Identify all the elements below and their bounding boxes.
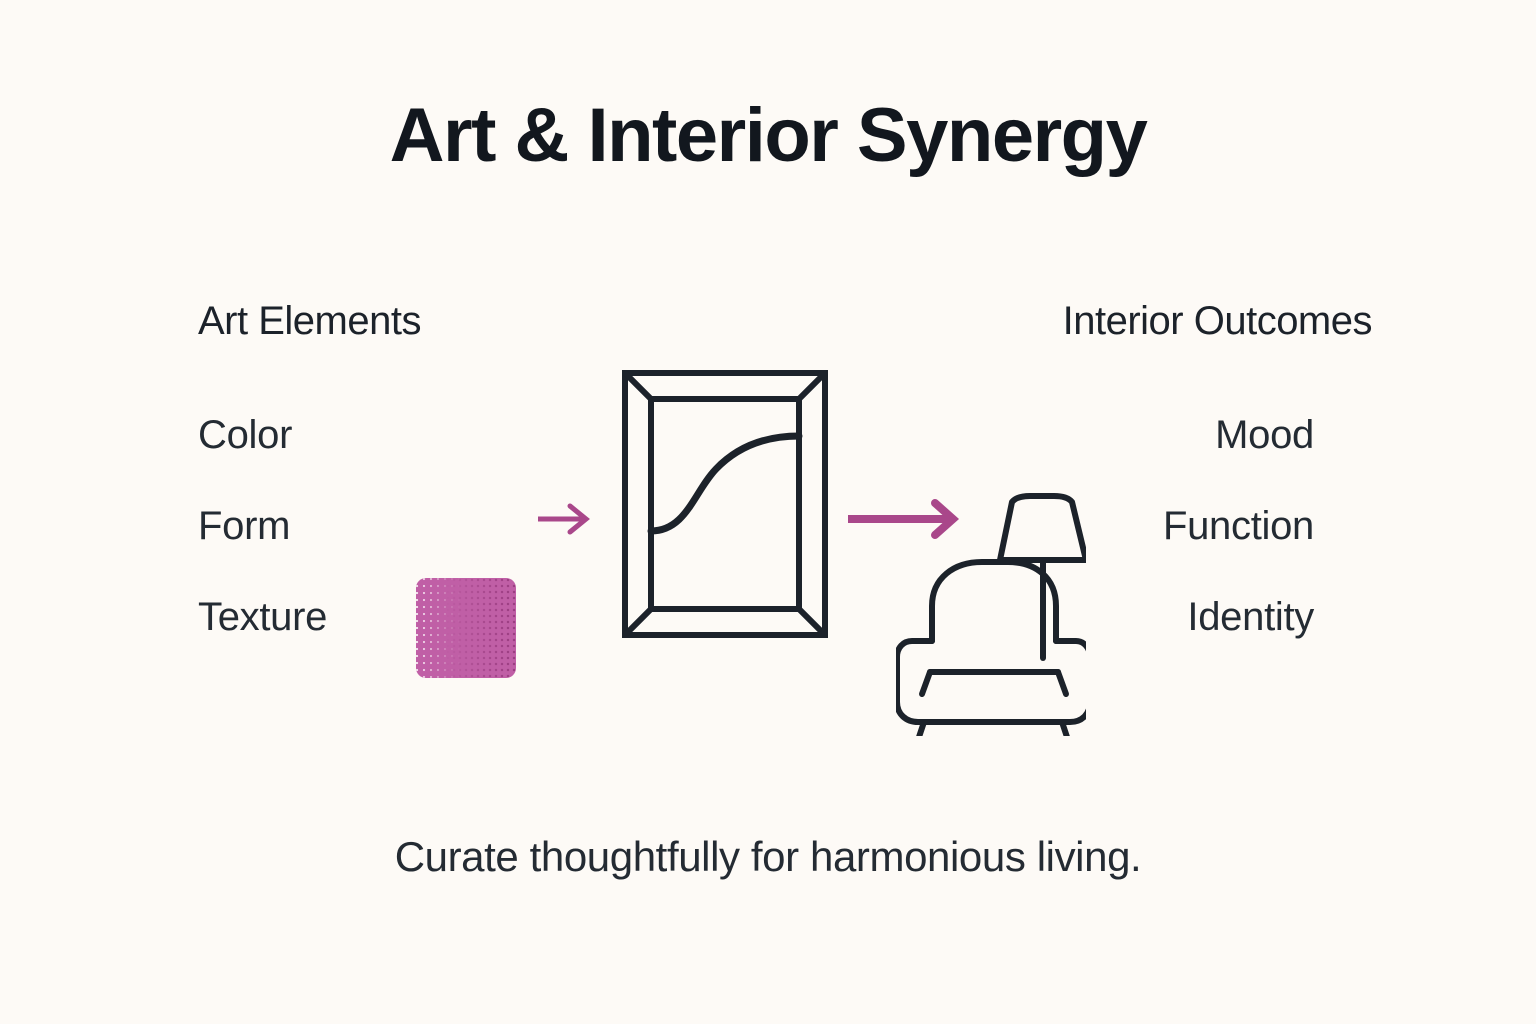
poster-canvas: Art & Interior Synergy Art Elements Inte… bbox=[0, 0, 1536, 1024]
arrow-elements-to-frame-icon bbox=[534, 497, 596, 546]
list-item-function: Function bbox=[1163, 506, 1314, 597]
right-column-heading: Interior Outcomes bbox=[1063, 301, 1372, 341]
picture-frame-icon bbox=[616, 364, 836, 649]
left-column-heading: Art Elements bbox=[198, 301, 421, 341]
list-item-texture: Texture bbox=[198, 597, 327, 688]
interior-outcomes-list: Mood Function Identity bbox=[1163, 415, 1314, 688]
list-item-mood: Mood bbox=[1163, 415, 1314, 506]
list-item-form: Form bbox=[198, 506, 327, 597]
page-title: Art & Interior Synergy bbox=[0, 98, 1536, 174]
swatch-dark-dots bbox=[416, 578, 516, 678]
list-item-color: Color bbox=[198, 415, 327, 506]
texture-swatch bbox=[416, 578, 516, 678]
page-caption: Curate thoughtfully for harmonious livin… bbox=[0, 833, 1536, 881]
armchair-lamp-icon bbox=[896, 486, 1086, 741]
art-elements-list: Color Form Texture bbox=[198, 415, 327, 688]
list-item-identity: Identity bbox=[1163, 597, 1314, 688]
